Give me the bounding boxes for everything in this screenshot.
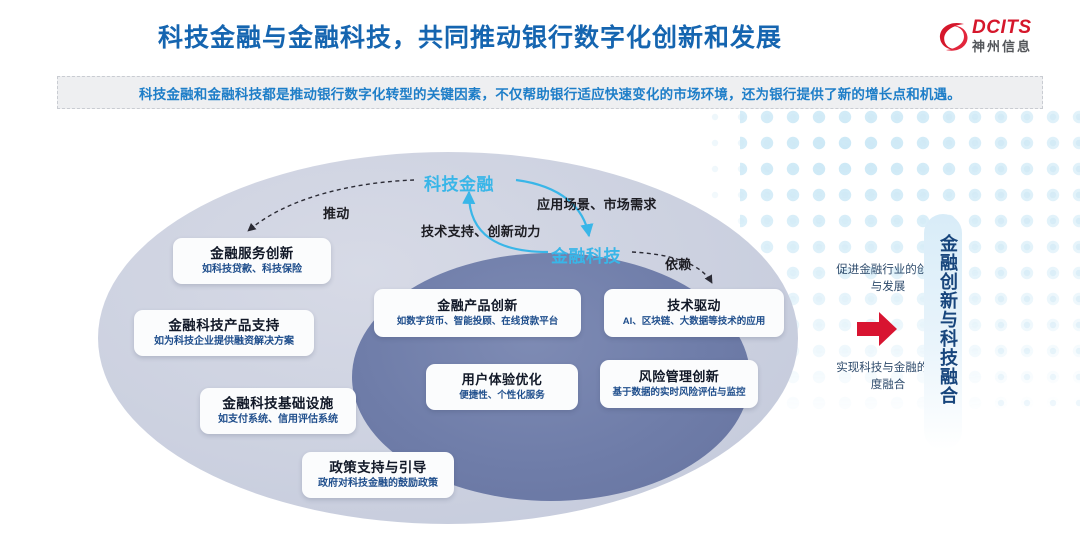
card-fintech-product[interactable]: 金融科技产品支持 如为科技企业提供融资解决方案 <box>134 310 314 356</box>
vertical-banner-text: 金融创新与科技融合 <box>928 234 958 405</box>
label-jinrong-keji: 金融科技 <box>551 242 621 267</box>
label-tech-support: 技术支持、创新动力 <box>421 221 541 240</box>
logo-en-text: DCITS <box>972 18 1032 37</box>
card-subtitle: 如为科技企业提供融资解决方案 <box>154 336 294 348</box>
card-user-experience[interactable]: 用户体验优化 便捷性、个性化服务 <box>426 364 578 410</box>
card-subtitle: 便捷性、个性化服务 <box>459 390 545 401</box>
card-title: 金融服务创新 <box>210 246 293 263</box>
card-product-innovation[interactable]: 金融产品创新 如数字货币、智能投顾、在线贷款平台 <box>374 289 581 337</box>
subtitle-band: 科技金融和金融科技都是推动银行数字化转型的关键因素，不仅帮助银行适应快速变化的市… <box>57 76 1043 109</box>
page-title: 科技金融与金融科技，共同推动银行数字化创新和发展 <box>0 18 940 54</box>
slide-canvas: 科技金融与金融科技，共同推动银行数字化创新和发展 DCITS 神州信息 科技金融… <box>0 0 1080 540</box>
logo-cn-text: 神州信息 <box>972 40 1032 53</box>
card-tech-driven[interactable]: 技术驱动 AI、区块链、大数据等技术的应用 <box>604 289 784 337</box>
card-subtitle: 政府对科技金融的鼓励政策 <box>318 478 438 490</box>
card-policy-support[interactable]: 政策支持与引导 政府对科技金融的鼓励政策 <box>302 452 454 498</box>
card-title: 金融科技产品支持 <box>168 318 279 335</box>
card-fintech-infra[interactable]: 金融科技基础设施 如支付系统、信用评估系统 <box>200 388 356 434</box>
card-title: 用户体验优化 <box>462 372 542 388</box>
card-title: 金融产品创新 <box>437 298 517 314</box>
label-keji-jinrong: 科技金融 <box>424 170 494 195</box>
label-scenario-demand: 应用场景、市场需求 <box>537 194 657 213</box>
card-title: 政策支持与引导 <box>329 460 426 477</box>
logo-text-block: DCITS 神州信息 <box>972 18 1032 53</box>
card-fin-service[interactable]: 金融服务创新 如科技贷款、科技保险 <box>173 238 331 284</box>
card-title: 金融科技基础设施 <box>222 396 333 413</box>
dcits-swirl-icon <box>938 20 970 54</box>
right-arrow-icon <box>855 310 899 348</box>
subtitle-text: 科技金融和金融科技都是推动银行数字化转型的关键因素，不仅帮助银行适应快速变化的市… <box>139 83 961 103</box>
card-subtitle: 如数字货币、智能投顾、在线贷款平台 <box>397 316 559 327</box>
card-subtitle: 基于数据的实时风险评估与监控 <box>612 387 745 398</box>
brand-logo: DCITS 神州信息 <box>938 16 1058 60</box>
card-subtitle: 如支付系统、信用评估系统 <box>218 414 338 426</box>
card-subtitle: 如科技贷款、科技保险 <box>202 264 302 276</box>
card-subtitle: AI、区块链、大数据等技术的应用 <box>623 316 766 327</box>
card-title: 风险管理创新 <box>639 369 719 385</box>
label-yilai: 依赖 <box>665 254 692 273</box>
card-risk-management[interactable]: 风险管理创新 基于数据的实时风险评估与监控 <box>600 360 758 408</box>
card-title: 技术驱动 <box>667 298 721 314</box>
label-tuidong: 推动 <box>323 203 350 222</box>
